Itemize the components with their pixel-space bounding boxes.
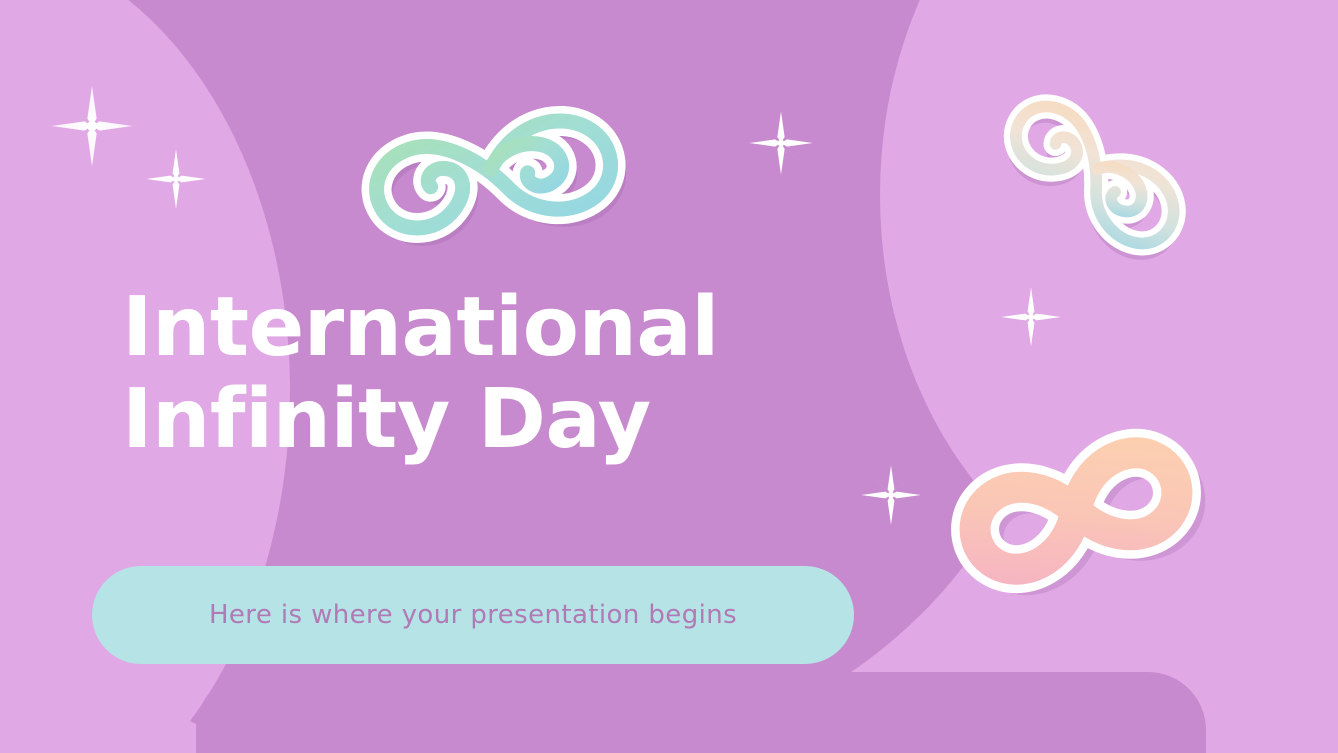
subtitle-text: Here is where your presentation begins [209, 600, 737, 630]
background-blob-bottom-purple [196, 672, 1206, 753]
subtitle-pill[interactable]: Here is where your presentation begins [92, 566, 854, 664]
page-title: International Infinity Day [122, 282, 922, 466]
infinity-pink-peach-icon [940, 395, 1215, 630]
infinity-green-cyan-icon [335, 72, 635, 267]
presentation-slide: International Infinity Day Here is where… [0, 0, 1338, 753]
infinity-peach-blue-icon [945, 68, 1195, 303]
